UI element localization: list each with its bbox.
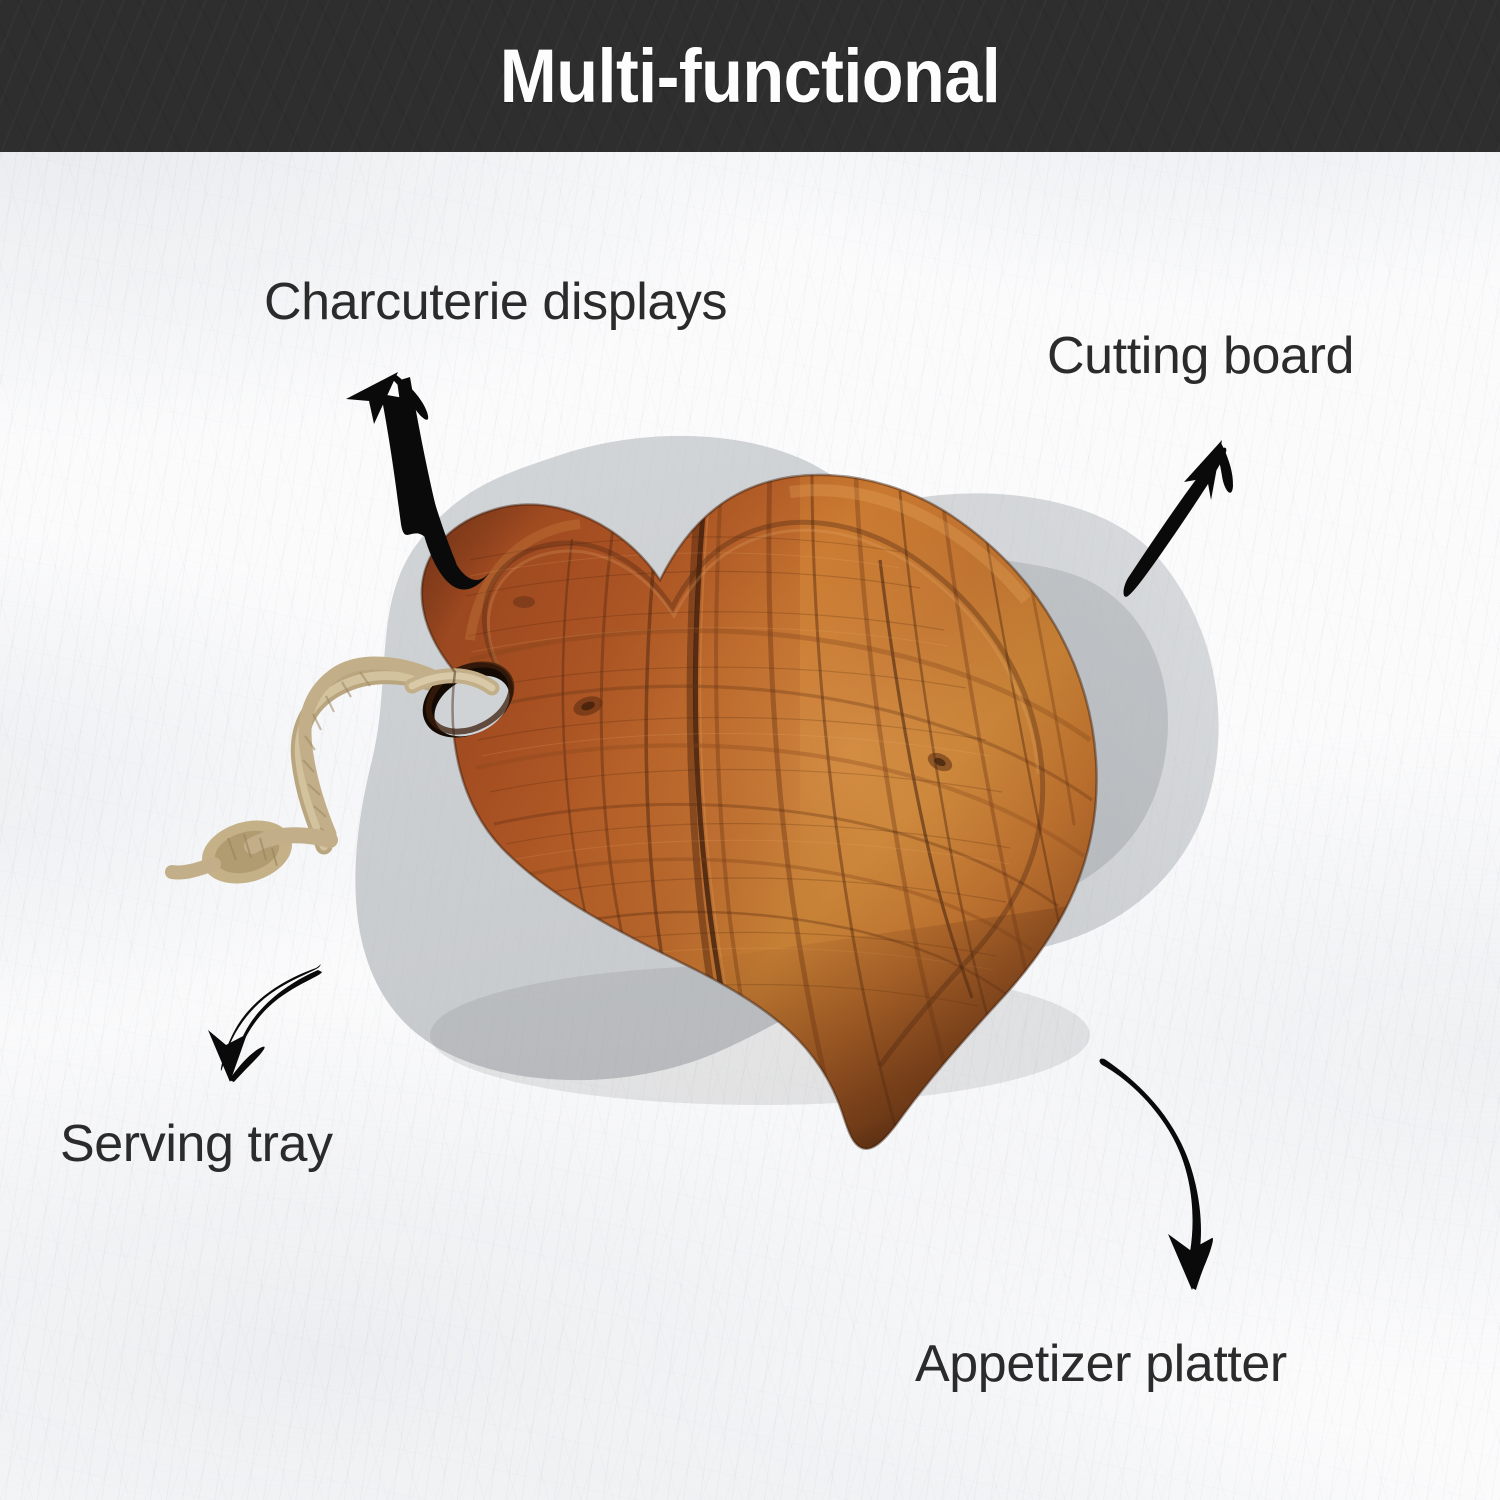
product-image-group xyxy=(0,0,1500,1500)
jute-rope-loop xyxy=(172,663,470,893)
infographic-canvas: Multi-functional xyxy=(0,0,1500,1500)
